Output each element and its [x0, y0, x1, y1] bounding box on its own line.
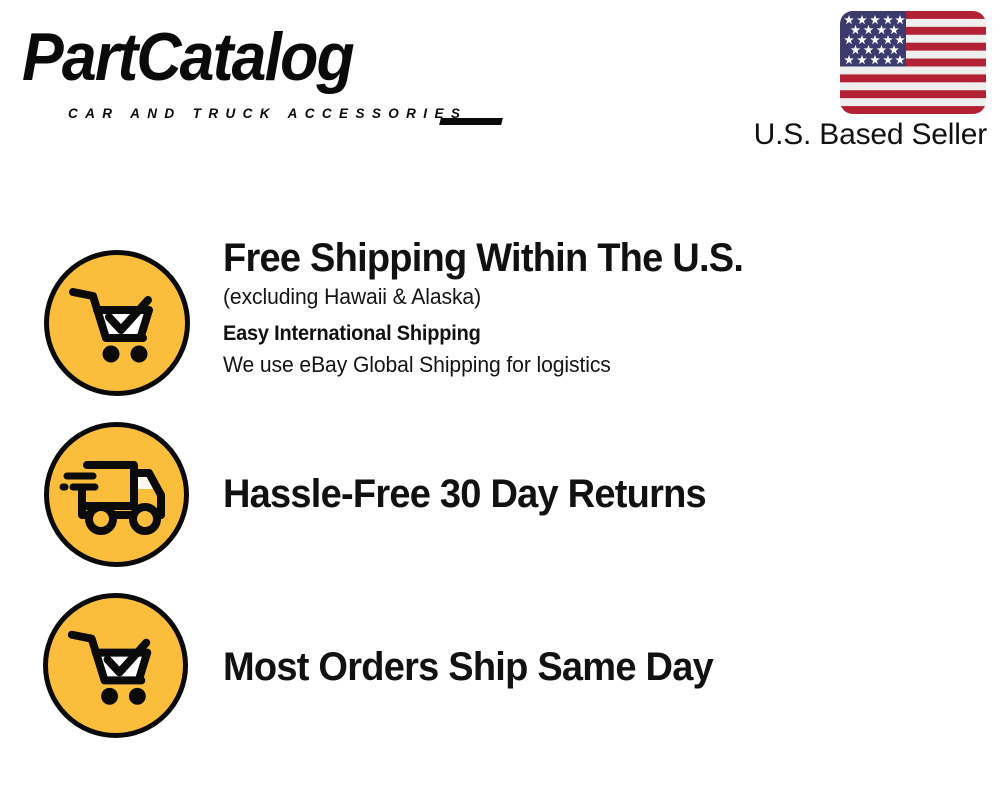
returns-text-block: Hassle-Free 30 Day Returns — [223, 470, 731, 518]
logo-underline-accent — [439, 118, 503, 125]
cart-check-icon — [44, 250, 190, 396]
delivery-truck-icon — [44, 422, 189, 567]
brand-tagline: CAR AND TRUCK ACCESSORIES — [68, 106, 467, 121]
feature-note: (excluding Hawaii & Alaska) — [223, 282, 749, 312]
same-day-text-block: Most Orders Ship Same Day — [223, 643, 739, 691]
us-flag-icon — [840, 11, 986, 114]
us-based-seller-label: U.S. Based Seller — [725, 117, 987, 153]
feature-headline: Most Orders Ship Same Day — [223, 643, 713, 691]
shipping-info-banner: PartCatalog CAR AND TRUCK ACCESSORIES — [0, 0, 1000, 800]
brand-logo[interactable]: PartCatalog CAR AND TRUCK ACCESSORIES — [22, 22, 492, 117]
brand-wordmark: PartCatalog — [22, 22, 353, 92]
feature-headline: Hassle-Free 30 Day Returns — [223, 470, 706, 518]
feature-subline: We use eBay Global Shipping for logistic… — [223, 349, 749, 380]
feature-headline: Free Shipping Within The U.S. — [223, 234, 743, 282]
free-shipping-text-block: Free Shipping Within The U.S. (excluding… — [223, 234, 771, 380]
feature-subheading: Easy International Shipping — [223, 319, 743, 349]
cart-check-icon — [43, 593, 188, 738]
